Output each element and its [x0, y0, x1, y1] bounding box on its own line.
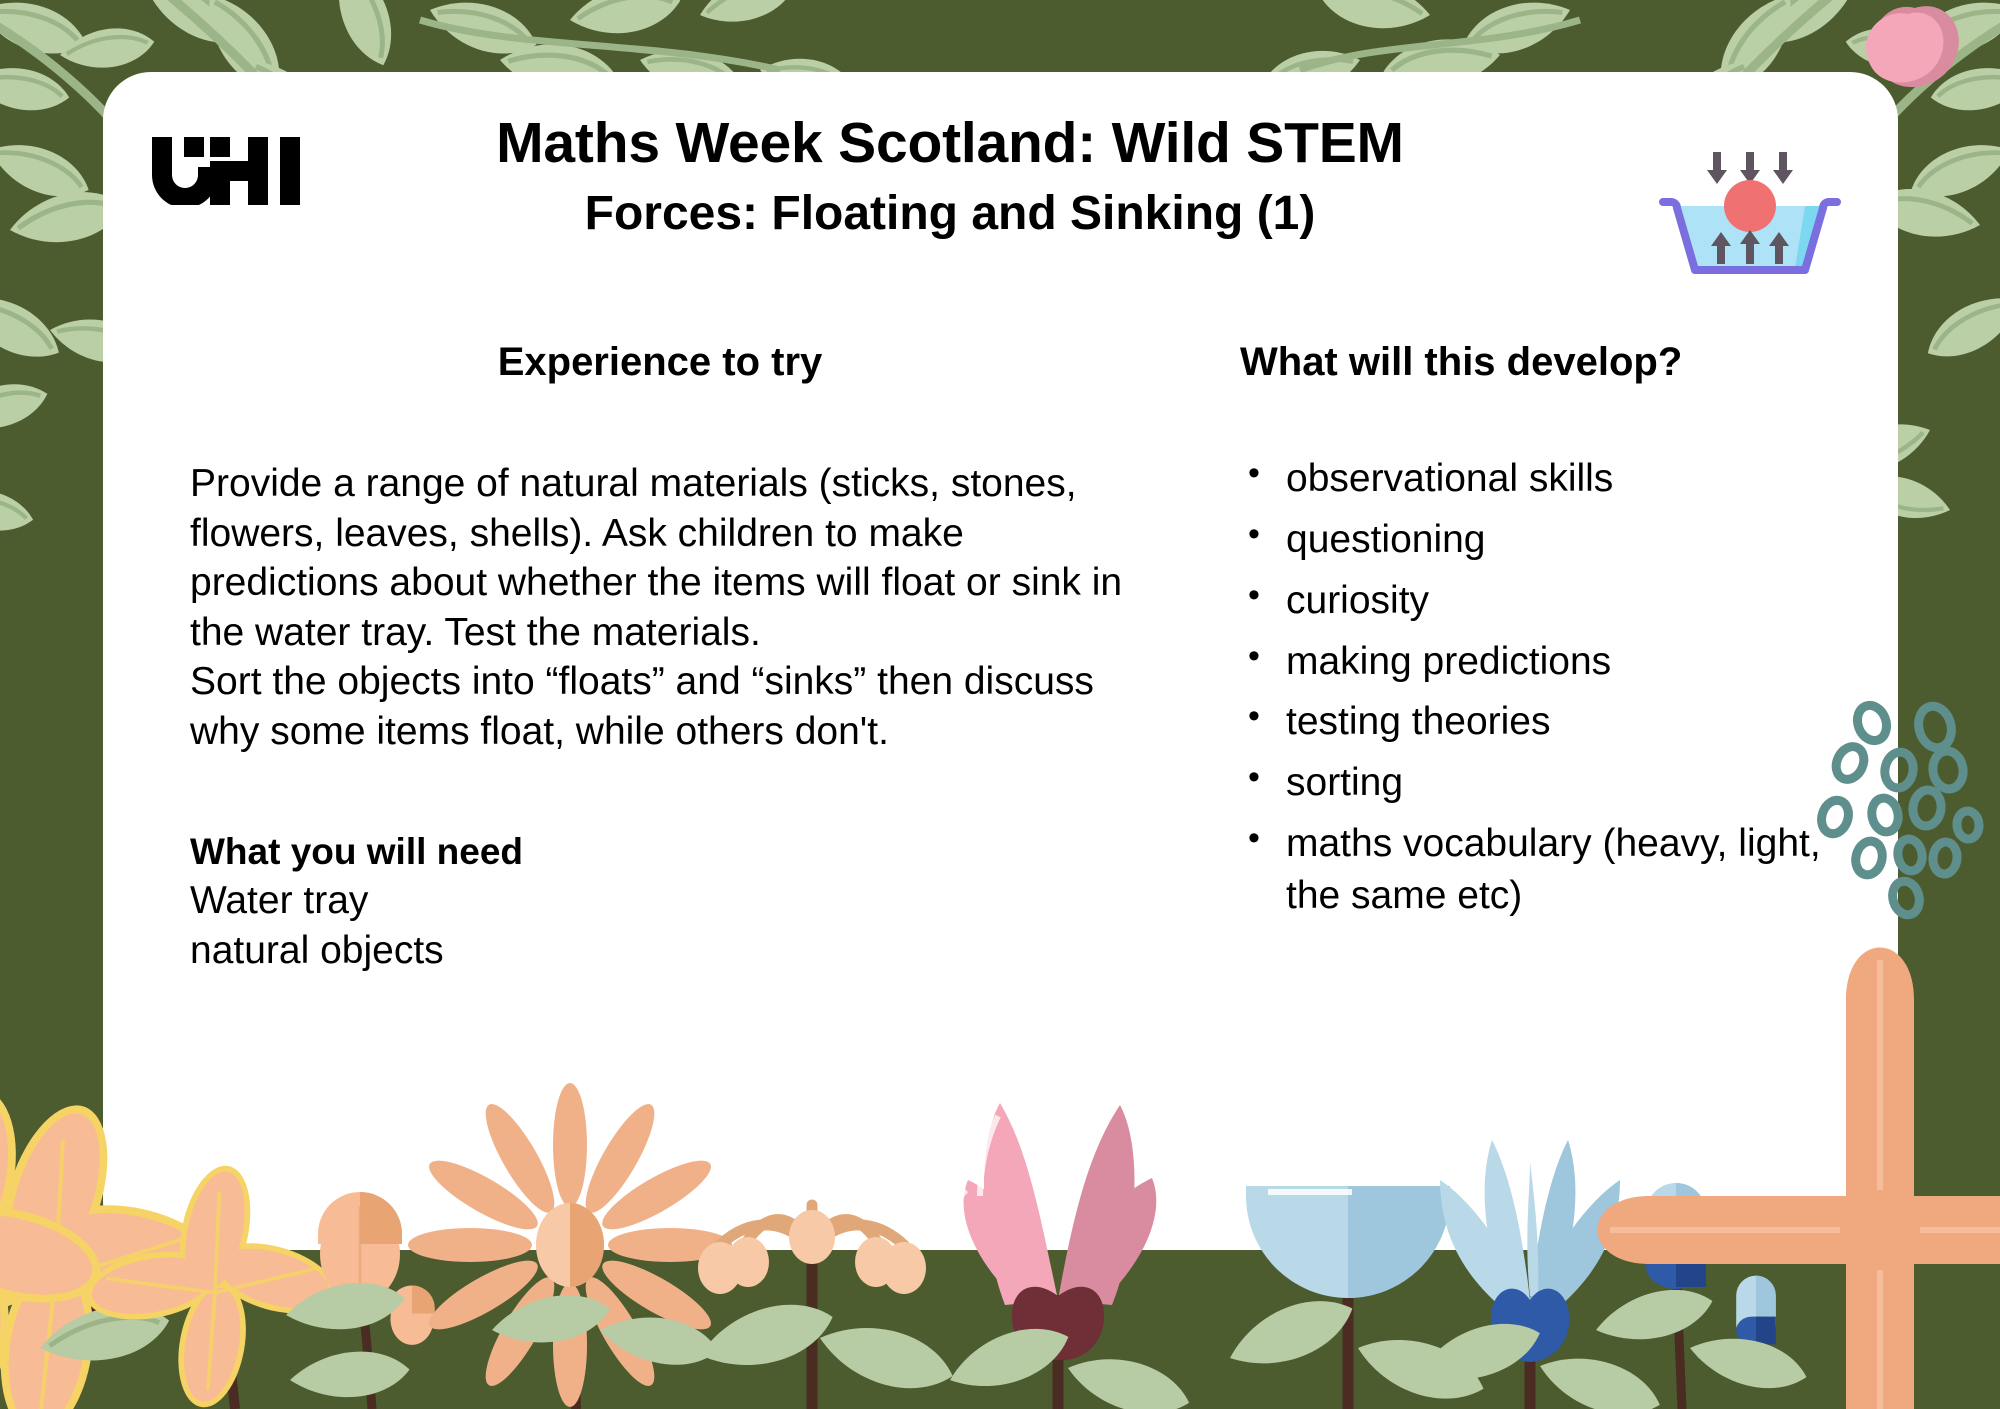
list-item: questioning [1230, 514, 1830, 566]
need-item-water-tray: Water tray [190, 876, 1130, 926]
experience-paragraph-1: Provide a range of natural materials (st… [190, 459, 1130, 657]
list-item: sorting [1230, 757, 1830, 809]
up-arrows [1711, 230, 1789, 264]
experience-column: Experience to try Provide a range of nat… [190, 340, 1130, 975]
develop-column: What will this develop? observational sk… [1230, 340, 1830, 931]
title-block: Maths Week Scotland: Wild STEM Forces: F… [300, 112, 1600, 241]
experience-heading: Experience to try [190, 340, 1130, 385]
list-item: maths vocabulary (heavy, light, the same… [1230, 818, 1830, 922]
list-item: observational skills [1230, 453, 1830, 505]
down-arrows [1707, 152, 1793, 184]
page-title: Maths Week Scotland: Wild STEM [300, 112, 1600, 176]
page-subtitle: Forces: Floating and Sinking (1) [300, 186, 1600, 241]
floating-sinking-tray-icon [1655, 150, 1845, 285]
develop-bullet-list: observational skills questioning curiosi… [1230, 453, 1830, 922]
uhi-logo-mark [152, 137, 302, 205]
list-item: testing theories [1230, 696, 1830, 748]
need-item-natural-objects: natural objects [190, 926, 1130, 976]
list-item: curiosity [1230, 575, 1830, 627]
experience-paragraph-2: Sort the objects into “floats” and “sink… [190, 657, 1130, 756]
uhi-logo [152, 137, 302, 210]
develop-heading: What will this develop? [1230, 340, 1830, 385]
what-you-need-heading: What you will need [190, 828, 1130, 876]
poster-canvas: Maths Week Scotland: Wild STEM Forces: F… [0, 0, 2000, 1409]
list-item: making predictions [1230, 636, 1830, 688]
